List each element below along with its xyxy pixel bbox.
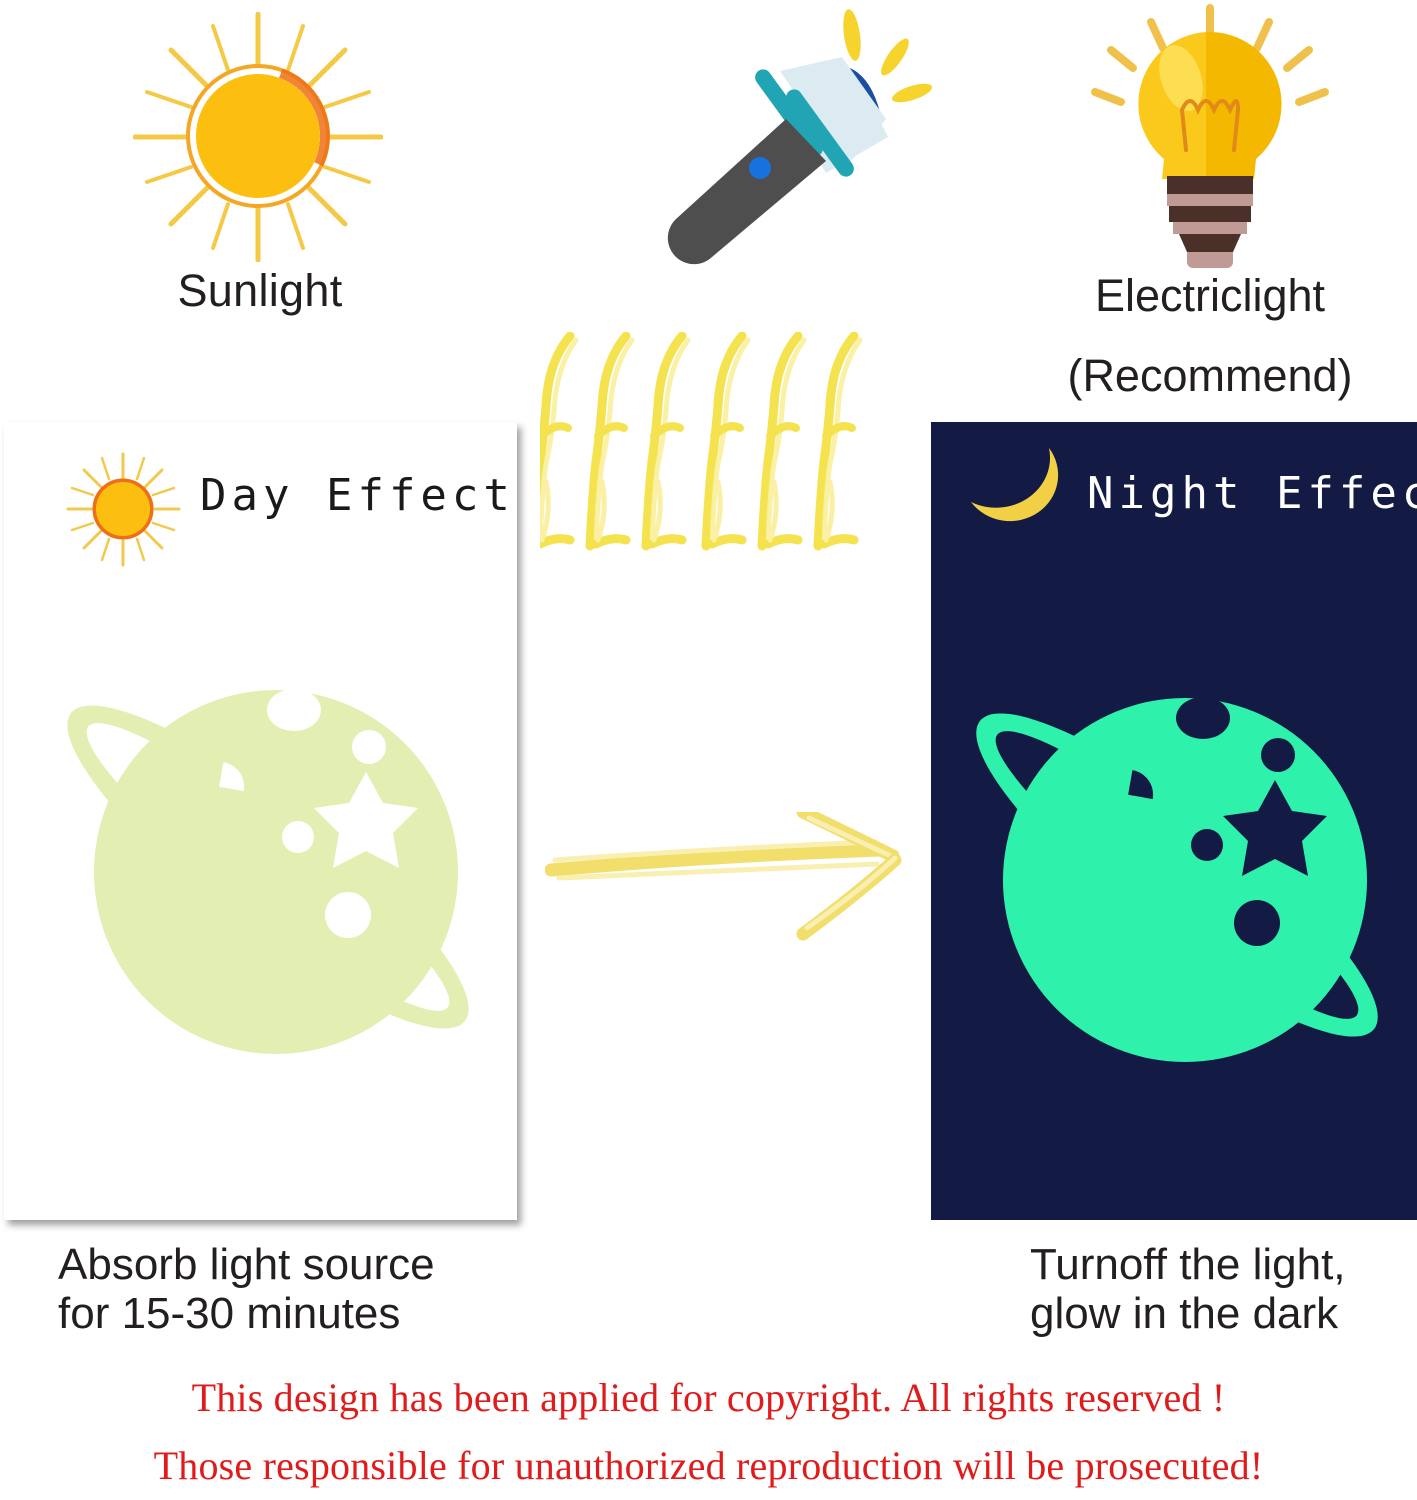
sunlight-label: Sunlight [0, 265, 520, 317]
light-ray-squiggle-icon [540, 332, 890, 557]
night-caption-line2: glow in the dark [1030, 1289, 1417, 1338]
night-caption: Turnoff the light, glow in the dark [1030, 1240, 1417, 1339]
copyright-line-2: Those responsible for unauthorized repro… [0, 1446, 1417, 1486]
copyright-line-1: This design has been applied for copyrig… [0, 1378, 1417, 1418]
electriclight-label: Electriclight [950, 270, 1417, 322]
night-effect-title: Night Effect [1087, 468, 1417, 519]
moon-icon [957, 440, 1067, 540]
day-caption: Absorb light source for 15-30 minutes [58, 1240, 578, 1339]
night-effect-panel: Night Effect [931, 422, 1417, 1220]
infographic-root: Sunlight [0, 0, 1417, 1500]
electriclight-sublabel: (Recommend) [950, 350, 1417, 402]
day-caption-line2: for 15-30 minutes [58, 1289, 578, 1338]
arrow-right-icon [545, 812, 935, 967]
planet-day-illustration [18, 542, 517, 1192]
day-effect-title: Day Effect [200, 470, 515, 521]
day-effect-panel: Day Effect [4, 422, 517, 1220]
lightbulb-icon [1055, 0, 1365, 270]
night-caption-line1: Turnoff the light, [1030, 1240, 1417, 1289]
night-panel-header: Night Effect [931, 422, 1417, 552]
sun-disc [196, 74, 320, 198]
copyright-notice: This design has been applied for copyrig… [0, 1378, 1417, 1486]
day-caption-line1: Absorb light source [58, 1240, 578, 1289]
flashlight-icon [640, 5, 940, 285]
planet-night-illustration [937, 540, 1412, 1200]
sun-icon [133, 12, 383, 262]
day-panel-header: Day Effect [4, 422, 517, 552]
